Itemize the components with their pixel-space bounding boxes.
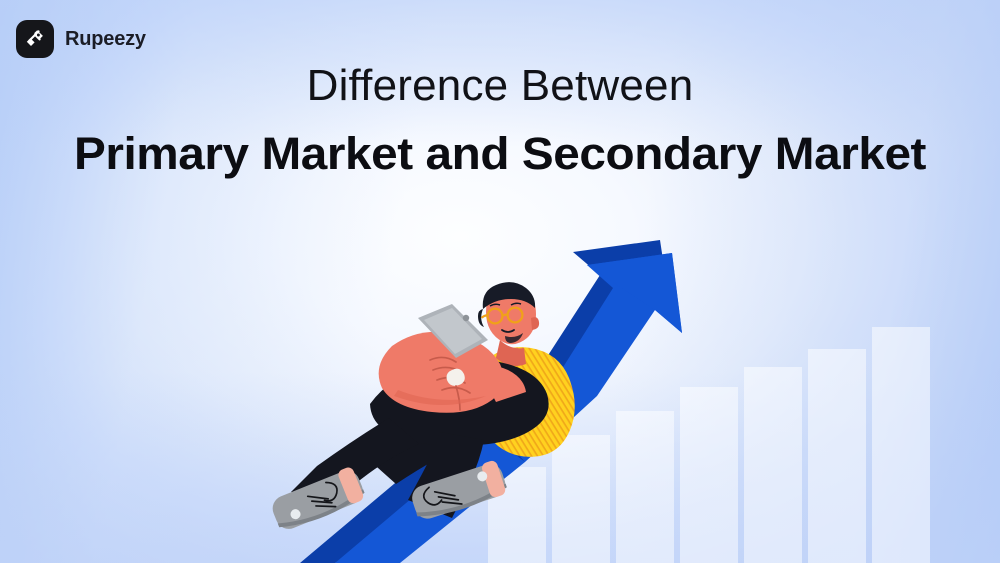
promo-banner: Rupeezy Difference Between Primary Marke…: [0, 0, 1000, 563]
brand-logo[interactable]: Rupeezy: [16, 20, 146, 58]
page-title: Primary Market and Secondary Market: [0, 129, 1000, 179]
heading-group: Difference Between Primary Market and Se…: [0, 62, 1000, 180]
seated-person: [268, 282, 575, 534]
brand-name: Rupeezy: [65, 29, 146, 49]
rupeezy-hammer-mark-icon: [16, 20, 54, 58]
eyebrow-title: Difference Between: [0, 62, 1000, 110]
